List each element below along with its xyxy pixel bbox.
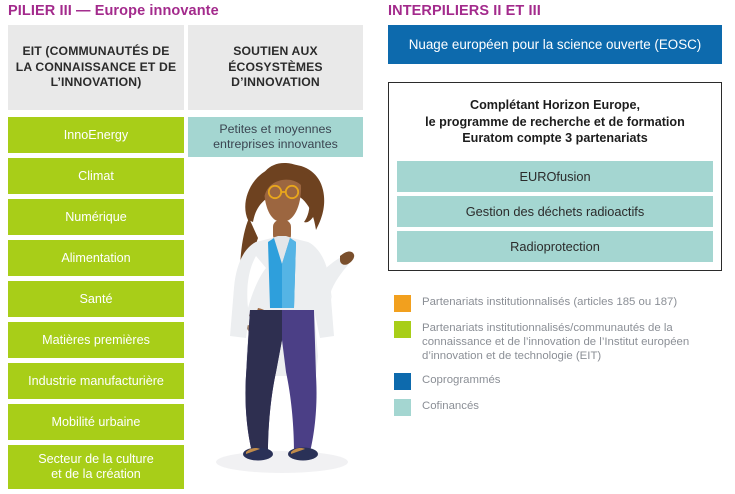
list-item[interactable]: Radioprotection <box>397 231 713 262</box>
scientist-illustration <box>196 160 368 490</box>
column-header-innovation-ecosystems: SOUTIEN AUX ÉCOSYSTÈMES D’INNOVATION <box>188 25 363 110</box>
list-item[interactable]: Numérique <box>8 199 184 235</box>
list-item[interactable]: Alimentation <box>8 240 184 276</box>
legend-label: Partenariats institutionnalisés (article… <box>422 294 677 309</box>
legend-swatch-icon <box>394 295 411 312</box>
pillar-three-panel: PILIER III — Europe innovante EIT (COMMU… <box>0 0 372 490</box>
legend-swatch-icon <box>394 321 411 338</box>
legend-label: Partenariats institutionnalisés/communau… <box>422 320 689 364</box>
legend-item: Coprogrammés <box>394 372 724 390</box>
column-header-eit: EIT (COMMUNAUTÉS DE LA CONNAISSANCE ET D… <box>8 25 184 110</box>
list-item[interactable]: Gestion des déchets radioactifs <box>397 196 713 227</box>
legend: Partenariats institutionnalisés (article… <box>394 294 724 424</box>
list-item[interactable]: EUROfusion <box>397 161 713 192</box>
list-item[interactable]: Secteur de la culture et de la création <box>8 445 184 489</box>
legend-label: Coprogrammés <box>422 372 501 387</box>
page-title-pillar-three: PILIER III — Europe innovante <box>8 3 219 19</box>
list-item[interactable]: Mobilité urbaine <box>8 404 184 440</box>
list-item[interactable]: InnoEnergy <box>8 117 184 153</box>
list-item[interactable]: Matières premières <box>8 322 184 358</box>
eit-kic-list: InnoEnergy Climat Numérique Alimentation… <box>8 117 184 494</box>
eosc-banner[interactable]: Nuage européen pour la science ouverte (… <box>388 25 722 64</box>
list-item[interactable]: Climat <box>8 158 184 194</box>
legend-label: Cofinancés <box>422 398 479 413</box>
euratom-partnership-list: EUROfusion Gestion des déchets radioacti… <box>397 157 713 262</box>
list-item[interactable]: Industrie manufacturière <box>8 363 184 399</box>
euratom-caption: Complétant Horizon Europe, le programme … <box>399 97 711 147</box>
legend-swatch-icon <box>394 399 411 416</box>
legend-item: Cofinancés <box>394 398 724 416</box>
legend-item: Partenariats institutionnalisés (article… <box>394 294 724 312</box>
euratom-partnerships-box: Complétant Horizon Europe, le programme … <box>388 82 722 271</box>
sme-innovative-enterprises-box[interactable]: Petites et moyennes entreprises innovant… <box>188 117 363 157</box>
legend-item: Partenariats institutionnalisés/communau… <box>394 320 724 364</box>
list-item[interactable]: Santé <box>8 281 184 317</box>
page-title-interpillars: INTERPILIERS II ET III <box>388 3 541 19</box>
legend-swatch-icon <box>394 373 411 390</box>
